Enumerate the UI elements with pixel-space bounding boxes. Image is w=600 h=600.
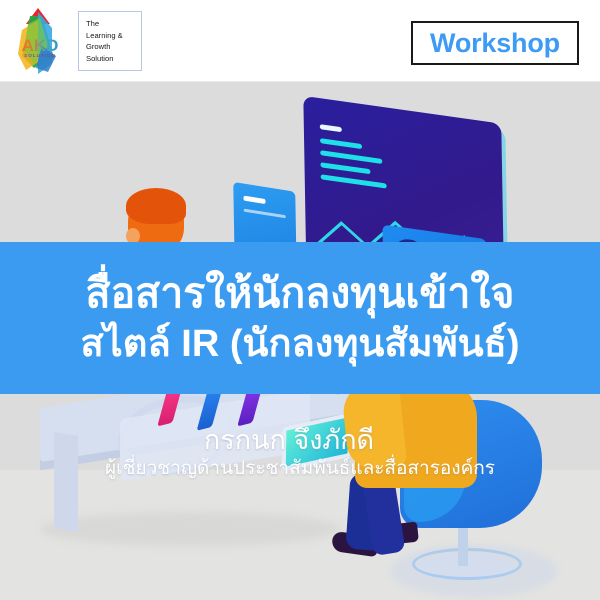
tagline-text: The Learning & Growth Solution [86,18,136,64]
title-line-secondary: สไตล์ IR (นักลงทุนสัมพันธ์) [80,322,519,367]
title-line-primary: สื่อสารให้นักลงทุนเข้าใจ [86,269,515,317]
card-bar [244,209,286,219]
desk-shadow [40,512,340,546]
workshop-poster: AKD SOLUTION The Learning & Growth Solut… [0,0,600,600]
dashboard-text-line [321,174,387,188]
akd-logo: AKD SOLUTION [8,6,70,76]
workshop-badge: Workshop [411,21,579,65]
chair-post [458,522,468,566]
dashboard-text-line [320,162,370,174]
tagline-box: The Learning & Growth Solution [78,11,142,71]
workshop-badge-label: Workshop [430,28,560,59]
akd-subword: SOLUTION [12,54,68,59]
dashboard-text-line [320,124,342,132]
standing-person-hair [126,188,186,224]
title-banner: สื่อสารให้นักลงทุนเข้าใจ สไตล์ IR (นักลง… [0,242,600,394]
akd-wordmark: AKD [12,37,68,54]
poster-header: AKD SOLUTION The Learning & Growth Solut… [0,0,600,82]
desk-leg [54,432,78,532]
dashboard-text-line [320,150,382,164]
brand-block: AKD SOLUTION The Learning & Growth Solut… [8,6,142,76]
dashboard-text-line [320,138,362,149]
card-bar [243,196,265,205]
